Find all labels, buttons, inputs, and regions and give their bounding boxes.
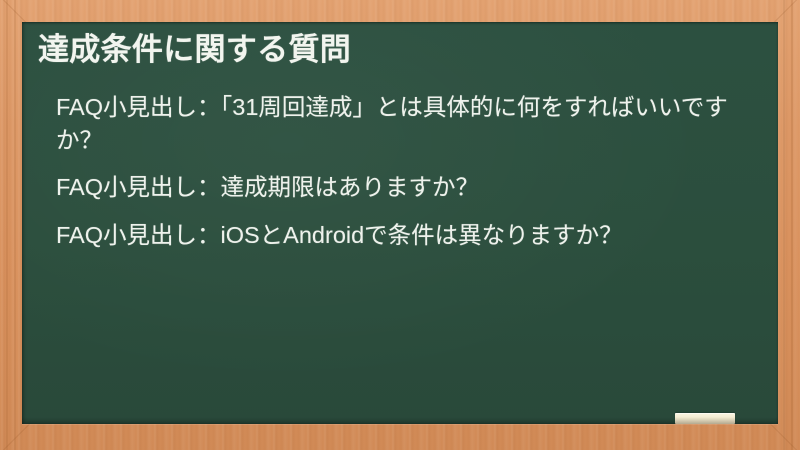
faq-item-2: FAQ小見出し：達成期限はありますか？ (56, 171, 736, 204)
board-content: 達成条件に関する質問 FAQ小見出し：「31周回達成」とは具体的に何をすればいい… (22, 22, 778, 252)
board-bottom-shadow (22, 417, 778, 424)
wood-grain-streak (6, 0, 8, 450)
chalkboard-surface: 達成条件に関する質問 FAQ小見出し：「31周回達成」とは具体的に何をすればいい… (22, 22, 778, 424)
frame-miter-bottom-left (0, 421, 33, 450)
chalk-stick-icon (675, 413, 735, 424)
frame-miter-bottom-right (767, 421, 800, 450)
faq-item-1: FAQ小見出し：「31周回達成」とは具体的に何をすればいいですか？ (56, 91, 736, 158)
wood-grain-streak (14, 0, 16, 450)
chalkboard-slide: 達成条件に関する質問 FAQ小見出し：「31周回達成」とは具体的に何をすればいい… (0, 0, 800, 450)
faq-item-3: FAQ小見出し：iOSとAndroidで条件は異なりますか？ (56, 219, 736, 252)
faq-list: FAQ小見出し：「31周回達成」とは具体的に何をすればいいですか？ FAQ小見出… (32, 91, 758, 252)
wood-grain-streak (791, 0, 793, 450)
wood-grain-streak (783, 0, 785, 450)
page-title: 達成条件に関する質問 (32, 32, 758, 69)
